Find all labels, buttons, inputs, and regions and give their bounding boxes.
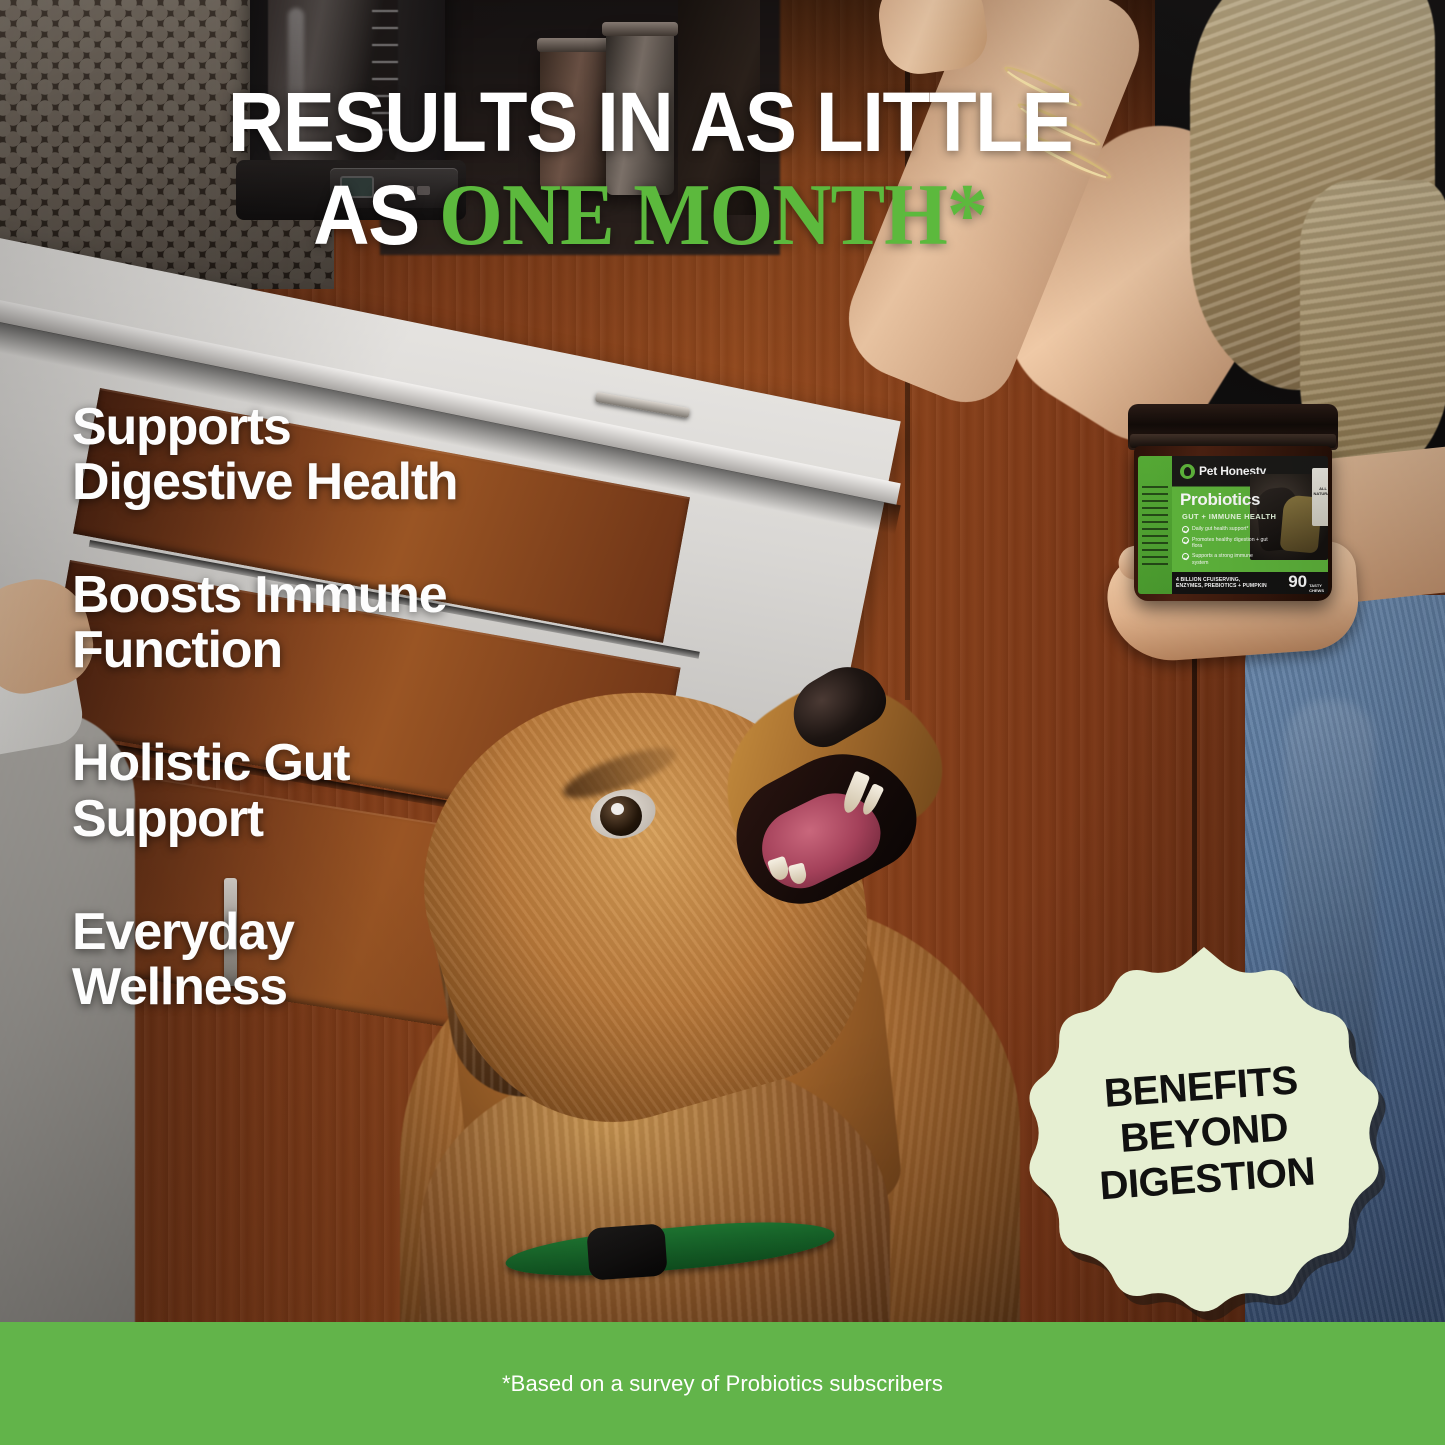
coffee-maker-button xyxy=(385,186,398,195)
carafe-measure-ticks xyxy=(372,10,398,145)
jar-chew-count: 90 TASTY CHEWS xyxy=(1288,573,1324,593)
canister-lid xyxy=(602,22,678,36)
pet-honesty-logo-icon xyxy=(1180,464,1195,479)
jar-claim-line-2: ENZYMES, PREBIOTICS + PUMPKIN xyxy=(1176,583,1267,589)
canister-lid xyxy=(537,38,613,52)
product-jar: Pet Honesty ALL NATURAL Probiotics GUT +… xyxy=(1128,404,1338,604)
counter-dark-appliance xyxy=(678,0,760,215)
check-icon xyxy=(1182,526,1189,533)
check-icon xyxy=(1182,553,1189,560)
check-icon xyxy=(1182,537,1189,544)
benefit-item-digestive-health: SupportsDigestive Health xyxy=(72,400,672,510)
benefits-list: SupportsDigestive Health Boosts ImmuneFu… xyxy=(72,400,672,1015)
counter-canister xyxy=(606,30,674,195)
benefits-beyond-digestion-badge: BENEFITS BEYOND DIGESTION xyxy=(1004,940,1404,1325)
dog-collar-tag xyxy=(586,1223,667,1280)
jar-bullet-item: Daily gut health support* xyxy=(1182,526,1268,533)
coffee-maker-button xyxy=(401,186,414,195)
carafe-highlight xyxy=(288,8,304,148)
jar-bullet-item: Supports a strong immune system xyxy=(1182,553,1268,565)
footnote-text: *Based on a survey of Probiotics subscri… xyxy=(502,1371,943,1397)
coffee-maker-button xyxy=(417,186,430,195)
jar-bullet-item: Promotes healthy digestion + gut flora xyxy=(1182,537,1268,549)
jar-product-subtitle: GUT + IMMUNE HEALTH xyxy=(1182,512,1276,521)
jar-benefit-bullets: Daily gut health support* Promotes healt… xyxy=(1182,526,1268,570)
counter-canister xyxy=(540,45,610,190)
benefit-item-immune-function: Boosts ImmuneFunction xyxy=(72,568,672,678)
jar-label-side-text-lines xyxy=(1142,486,1168,566)
jar-count-number: 90 xyxy=(1288,573,1307,590)
benefit-item-gut-support: Holistic GutSupport xyxy=(72,736,672,846)
ad-creative: Pet Honesty ALL NATURAL Probiotics GUT +… xyxy=(0,0,1445,1445)
jar-bullet-text: Supports a strong immune system xyxy=(1192,553,1268,565)
jar-product-name: Probiotics xyxy=(1180,490,1260,510)
coffee-maker-display xyxy=(340,176,374,198)
jar-count-labels: TASTY CHEWS xyxy=(1309,584,1324,593)
footer-bar: *Based on a survey of Probiotics subscri… xyxy=(0,1322,1445,1445)
jar-all-natural-seal: ALL NATURAL xyxy=(1312,468,1328,526)
jar-label: Pet Honesty ALL NATURAL Probiotics GUT +… xyxy=(1138,456,1328,594)
badge-text-block: BENEFITS BEYOND DIGESTION xyxy=(991,927,1417,1339)
jar-bullet-text: Promotes healthy digestion + gut flora xyxy=(1192,537,1268,549)
jar-claim-bar: 4 BILLION CFU/SERVING, ENZYMES, PREBIOTI… xyxy=(1172,572,1328,594)
jar-label-side-panel xyxy=(1138,456,1172,594)
badge-line-2: BEYOND xyxy=(1119,1106,1290,1160)
benefit-item-everyday-wellness: EverydayWellness xyxy=(72,905,672,1015)
jar-claim-text: 4 BILLION CFU/SERVING, ENZYMES, PREBIOTI… xyxy=(1176,577,1267,590)
jar-count-label-chews: CHEWS xyxy=(1309,589,1324,593)
jar-bullet-text: Daily gut health support* xyxy=(1192,526,1249,532)
